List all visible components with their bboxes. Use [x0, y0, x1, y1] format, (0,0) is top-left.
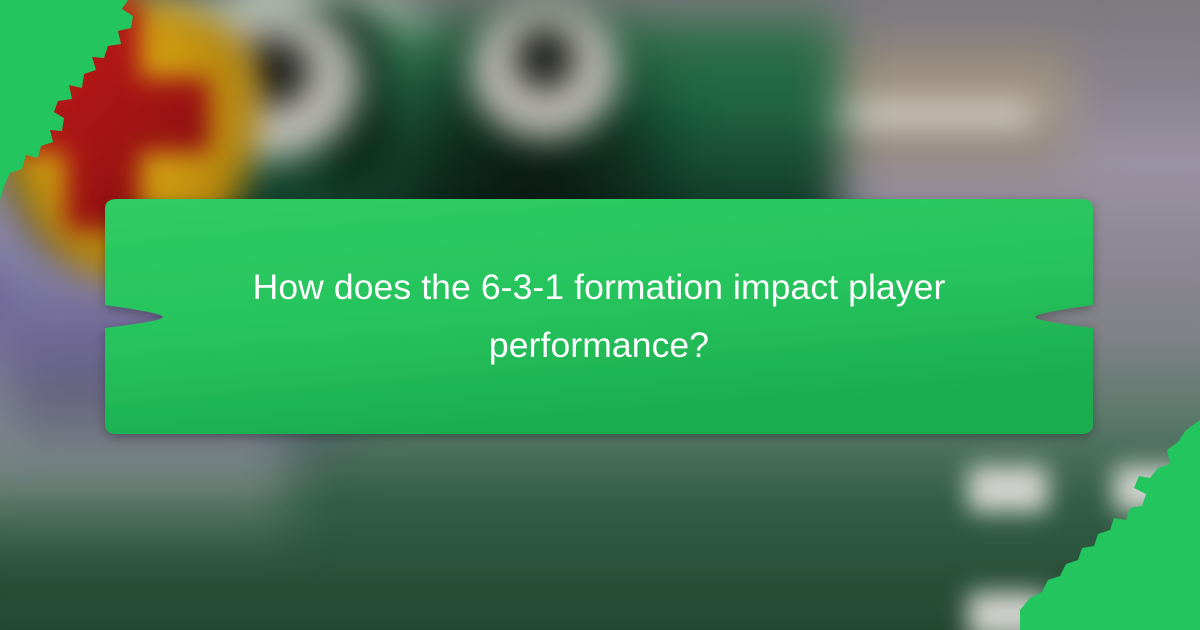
banner-text-container: How does the 6-3-1 formation impact play… — [105, 197, 1093, 436]
torn-corner-top-left-icon — [0, 0, 190, 200]
poster-canvas: How does the 6-3-1 formation impact play… — [0, 0, 1200, 630]
question-headline: How does the 6-3-1 formation impact play… — [225, 259, 973, 374]
torn-corner-bottom-right-icon — [1020, 420, 1200, 630]
question-banner: How does the 6-3-1 formation impact play… — [105, 197, 1093, 436]
